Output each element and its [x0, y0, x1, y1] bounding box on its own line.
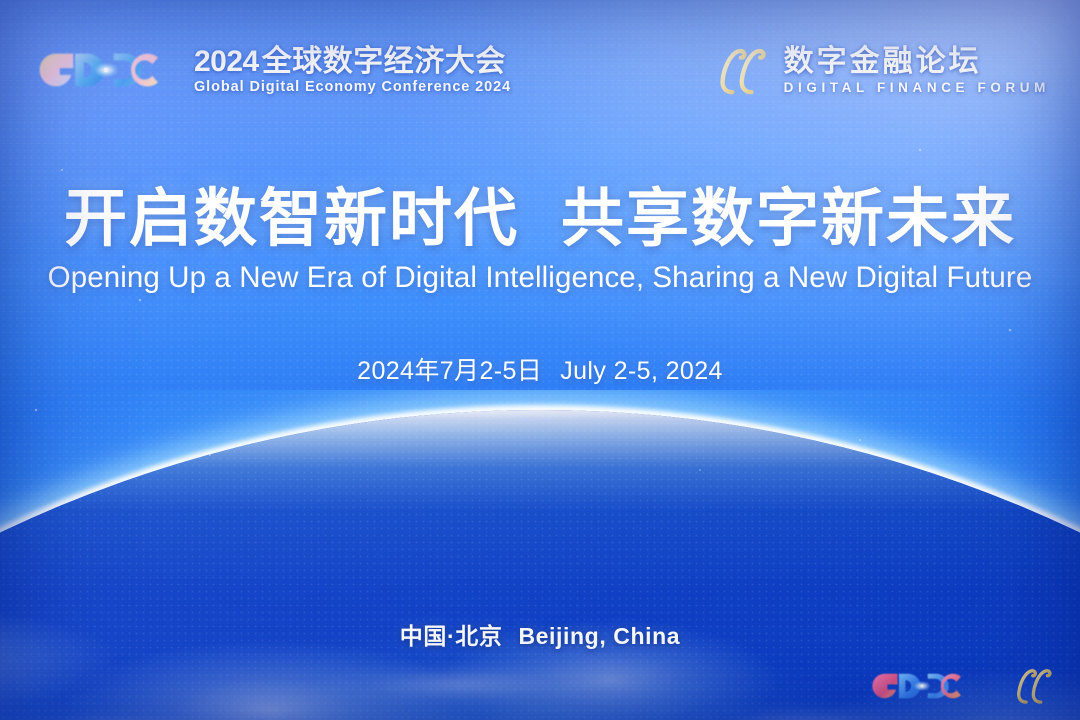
event-date: 2024年7月2-5日July 2-5, 2024 [0, 351, 1080, 387]
footer-logo-group [868, 666, 1054, 706]
gdec-logo-lockup[interactable]: 2024全球数字经济大会 Global Digital Economy Conf… [32, 44, 511, 96]
gdec-title-cn: 2024全球数字经济大会 [194, 47, 511, 77]
gdec-year: 2024 [194, 45, 259, 78]
dff-title-en: DIGITAL FINANCE FORUM [784, 81, 1050, 95]
gdec-title-cn-text: 全球数字经济大会 [262, 45, 506, 78]
conference-backdrop: 2024全球数字经济大会 Global Digital Economy Conf… [0, 0, 1080, 720]
event-location-en: Beijing, China [518, 623, 680, 649]
gdec-title-en: Global Digital Economy Conference 2024 [194, 80, 511, 95]
headline-en: Opening Up a New Era of Digital Intellig… [0, 262, 1080, 294]
gdec-logo-mark[interactable] [868, 666, 976, 706]
digital-finance-forum-monogram-icon [711, 46, 769, 96]
header: 2024全球数字经济大会 Global Digital Economy Conf… [0, 0, 1080, 130]
event-location: 中国·北京Beijing, China [0, 617, 1080, 651]
headline-cn: 开启数智新时代共享数字新未来 [0, 186, 1080, 253]
hero-block: 开启数智新时代共享数字新未来 Opening Up a New Era of D… [0, 186, 1080, 294]
event-location-cn: 中国·北京 [400, 623, 503, 649]
dff-title-cn: 数字金融论坛 [784, 47, 1050, 77]
event-date-en: July 2-5, 2024 [560, 357, 723, 385]
gdec-logo-mark [32, 44, 180, 96]
dff-logo-lockup[interactable]: 数字金融论坛 DIGITAL FINANCE FORUM [711, 46, 1050, 96]
headline-cn-part2: 共享数字新未来 [561, 184, 1016, 254]
event-date-cn: 2024年7月2-5日 [357, 357, 542, 385]
digital-finance-forum-monogram-icon[interactable] [1010, 666, 1054, 706]
headline-cn-part1: 开启数智新时代 [64, 184, 519, 254]
